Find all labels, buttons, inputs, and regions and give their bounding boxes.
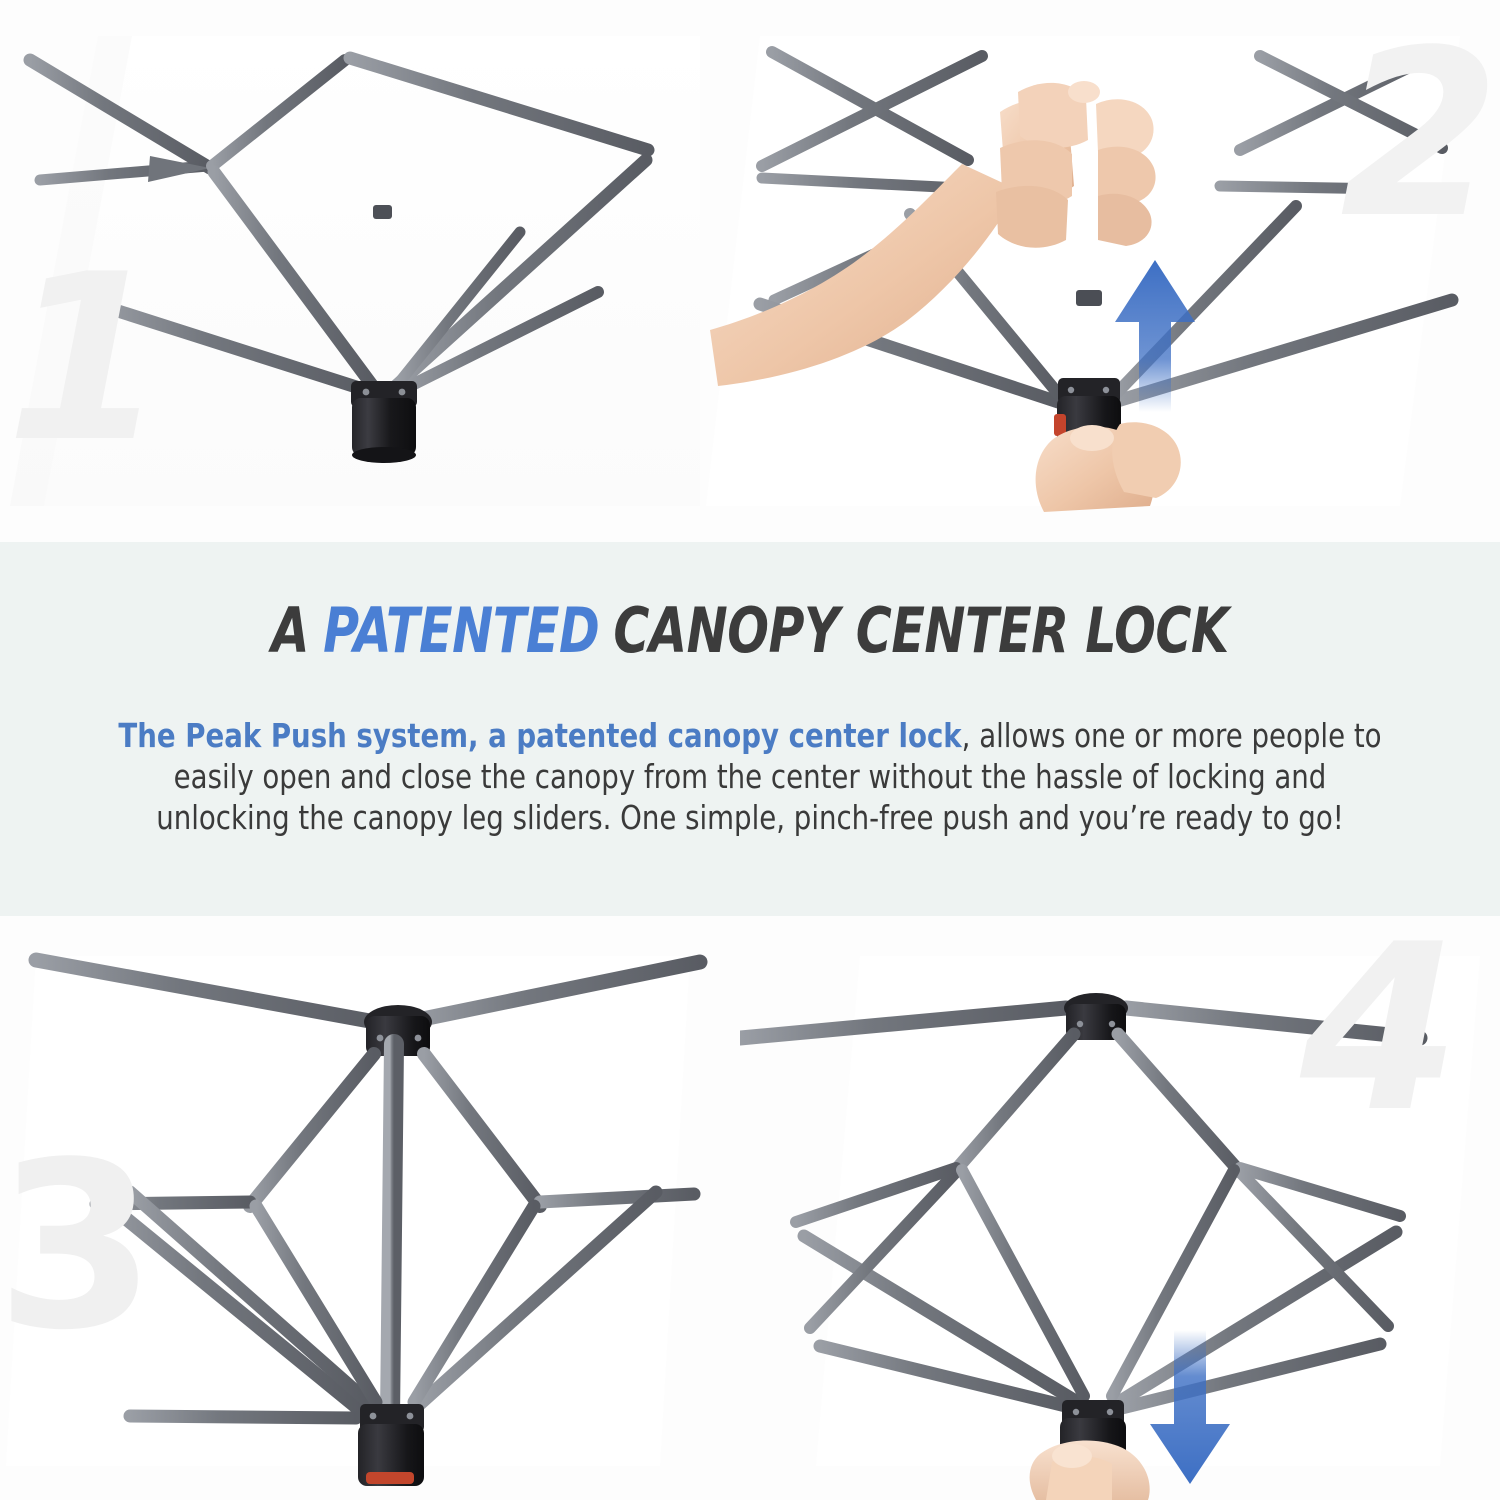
arrow-down-icon (1150, 1330, 1230, 1484)
panel-1-number: 1 (6, 268, 166, 452)
step-panel-3: 3 (0, 916, 740, 1500)
body-copy: The Peak Push system, a patented canopy … (108, 715, 1391, 838)
center-lock-hub-1 (351, 381, 417, 463)
headline-highlight: PATENTED (323, 594, 599, 667)
body-copy-lead: The Peak Push system, a patented canopy … (118, 716, 961, 755)
center-lock-hub-3 (358, 1404, 424, 1486)
hand-pulling-lock (1030, 1440, 1150, 1500)
panel-4-number: 4 (1300, 938, 1460, 1122)
panel-2-number: 2 (1340, 44, 1500, 228)
text-band: APATENTEDCANOPY CENTER LOCK The Peak Pus… (0, 542, 1500, 916)
panel-3-number: 3 (0, 1156, 156, 1340)
step-panel-1: 1 (0, 0, 700, 542)
infographic-stage: 1 (0, 0, 1500, 1500)
headline-part-2: CANOPY CENTER LOCK (613, 594, 1228, 667)
page-title: APATENTEDCANOPY CENTER LOCK (90, 594, 1410, 667)
step-panel-2: 2 (700, 0, 1500, 542)
headline-part-1: A (271, 594, 309, 667)
step-panel-4: 4 (740, 916, 1500, 1500)
